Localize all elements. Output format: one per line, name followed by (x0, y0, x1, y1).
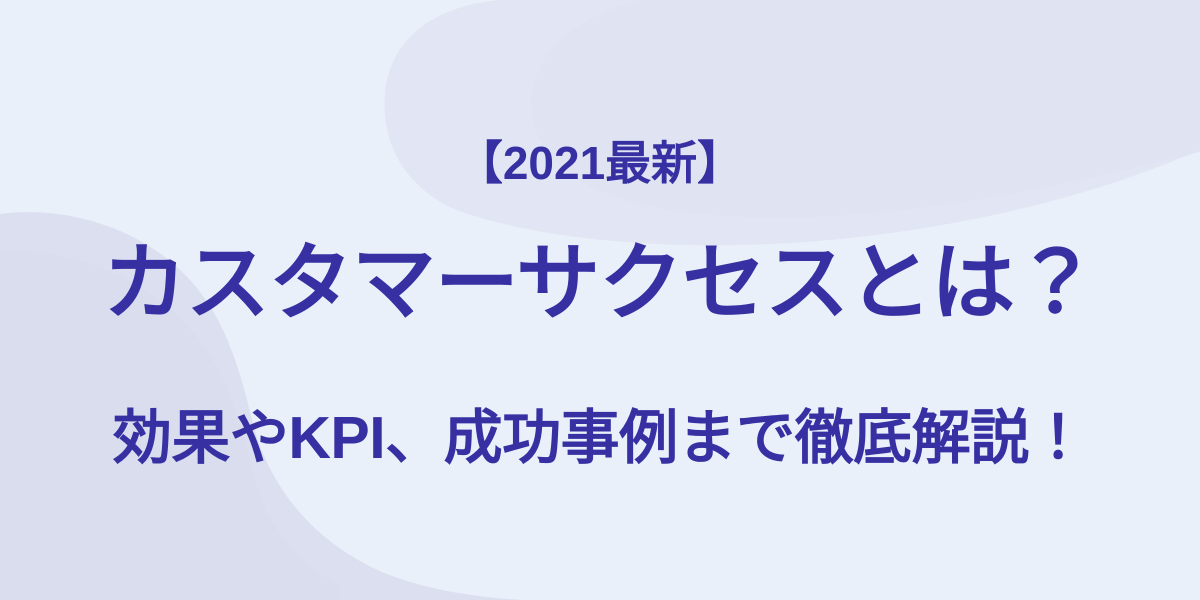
banner-content: 【2021最新】 カスタマーサクセスとは？ 効果やKPI、成功事例まで徹底解説！ (0, 0, 1200, 600)
banner-headline: カスタマーサクセスとは？ (0, 228, 1200, 338)
article-hero-banner: 【2021最新】 カスタマーサクセスとは？ 効果やKPI、成功事例まで徹底解説！ (0, 0, 1200, 600)
banner-eyebrow: 【2021最新】 (0, 133, 1200, 193)
banner-subheadline: 効果やKPI、成功事例まで徹底解説！ (0, 400, 1200, 476)
